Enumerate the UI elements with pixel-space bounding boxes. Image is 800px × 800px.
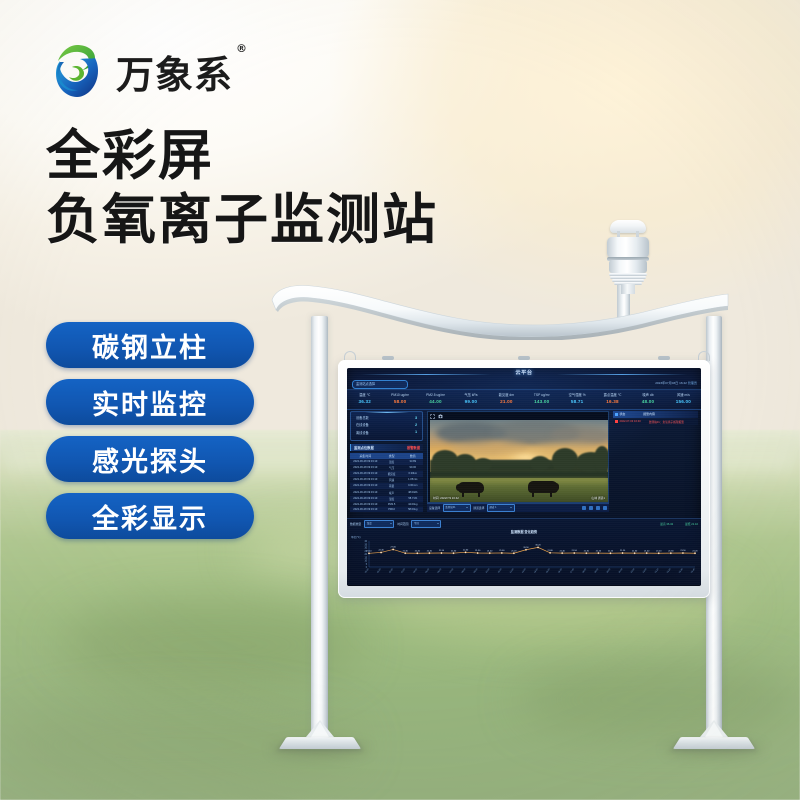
feature-pill-list: 碳钢立柱实时监控感光探头全彩显示 (46, 322, 254, 550)
video-controls (430, 414, 443, 419)
camera-snapshot-icon[interactable] (438, 414, 443, 419)
feature-pill-1: 碳钢立柱 (46, 322, 254, 368)
headline-line-2: 负氧离子监测站 (46, 188, 438, 252)
feature-pill-label: 全彩显示 (92, 497, 208, 536)
feature-pill-label: 实时监控 (92, 383, 208, 422)
feature-pill-label: 感光探头 (92, 440, 208, 479)
feature-pill-2: 实时监控 (46, 379, 254, 425)
registered-trademark-icon: ® (236, 42, 248, 55)
brand-name: 万象系® (116, 44, 233, 99)
headline-block: 全彩屏 负氧离子监测站 (46, 124, 438, 251)
feature-pill-label: 碳钢立柱 (92, 326, 208, 365)
headline-line-1: 全彩屏 (46, 124, 438, 188)
feature-pill-4: 全彩显示 (46, 493, 254, 539)
product-marketing-image: 云平台 监测站点选择 2023年07月03日 16:42 管理员 温度 ℃36.… (0, 0, 800, 800)
fullscreen-icon[interactable] (430, 414, 435, 419)
globe-swirl-logo-icon (48, 42, 106, 100)
brand-logo: 万象系® (48, 42, 233, 100)
feature-pill-3: 感光探头 (46, 436, 254, 482)
